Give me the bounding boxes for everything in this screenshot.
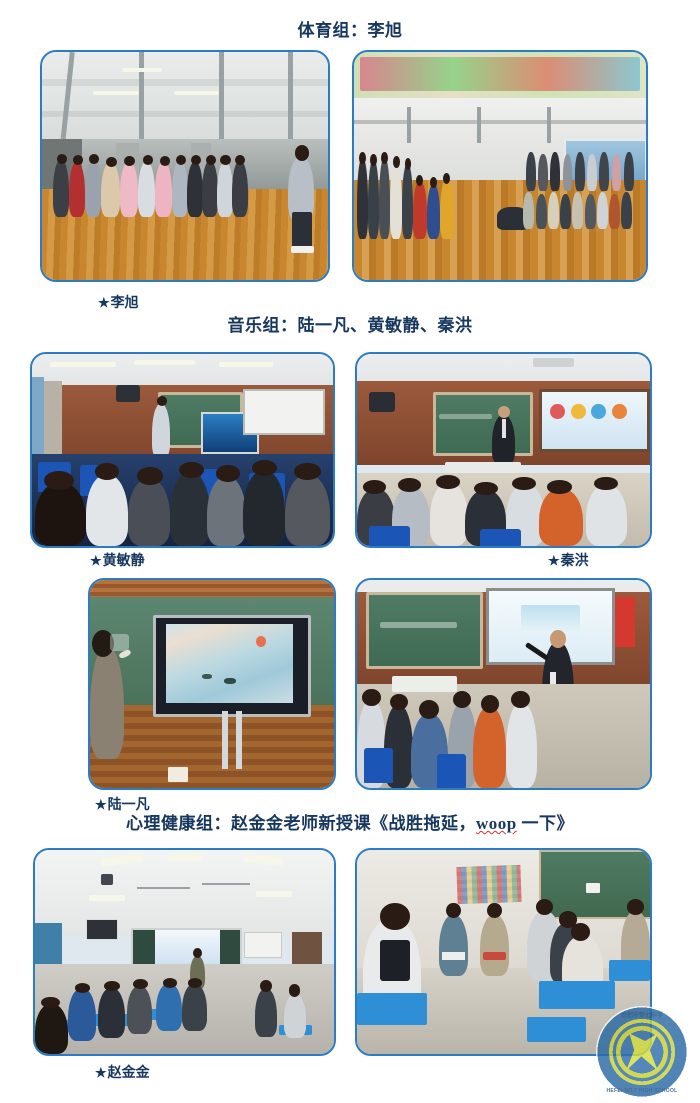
gym-lineup-scene [42,52,328,280]
seal-text-chinese: 合肥市第七中学 [596,1010,688,1019]
caption-qinhong: ★秦洪 [548,550,589,570]
music-classroom-scene-1 [32,354,333,546]
section-heading-pe: 体育组：李旭 [0,21,700,41]
music-classroom-scene-2 [357,354,650,546]
psy-photo-left [33,848,336,1056]
heading-part-spellchecked: woop [476,814,517,833]
star-icon: ★ [95,797,107,812]
star-icon: ★ [90,553,102,568]
monet-board-scene [90,580,334,788]
pe-photo-left [40,50,330,282]
caption-zhaojinjin: ★赵金金 [95,1062,150,1082]
music-photo-4 [355,578,652,790]
psychology-classroom-scene-1 [35,850,334,1054]
caption-huangminjing: ★黄敏静 [90,550,145,570]
music-photo-1 [30,352,335,548]
seal-text-english: HEFEI NO.7 HIGH SCHOOL [596,1088,688,1094]
star-icon: ★ [95,1065,107,1080]
school-seal-watermark: 合肥市第七中学 HEFEI NO.7 HIGH SCHOOL [596,1006,688,1098]
caption-lixu: ★李旭 [98,292,139,312]
report-page: 体育组：李旭 [0,0,700,1103]
pe-photo-right [352,50,648,282]
music-photo-3 [88,578,336,790]
star-icon: ★ [548,553,560,568]
gym-banner-scene [354,52,646,280]
music-photo-2 [355,352,652,548]
section-heading-music: 音乐组：陆一凡、黄敏静、秦洪 [0,316,700,336]
caption-luyifan: ★陆一凡 [95,794,150,814]
section-heading-psychology: 心理健康组：赵金金老师新授课《战胜拖延，woop 一下》 [0,814,700,834]
heading-part-3: 一下》 [517,814,574,833]
heading-part-1: 心理健康组：赵金金老师新授课《战胜拖延， [126,814,476,833]
clarinet-lesson-scene [357,580,650,788]
star-icon: ★ [98,295,110,310]
